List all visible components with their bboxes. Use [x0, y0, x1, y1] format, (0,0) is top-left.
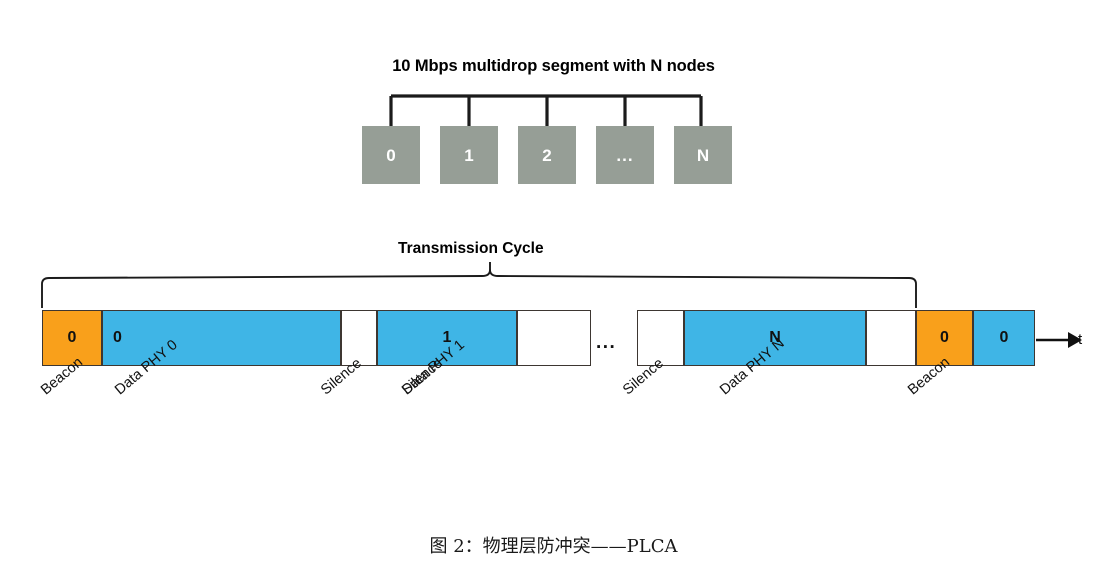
node-box-label: 0 — [386, 147, 395, 164]
figure-canvas: 10 Mbps multidrop segment with N nodes 0… — [0, 0, 1107, 579]
time-axis-arrow — [1034, 324, 1106, 356]
node-box-ellipsis: ... — [596, 126, 654, 184]
timeline-block-data-1: 0 — [102, 310, 341, 366]
timeline-block-silence-5 — [637, 310, 684, 366]
node-box-label: N — [697, 147, 709, 164]
node-box-2: 2 — [518, 126, 576, 184]
timeline-block-label: 0 — [113, 330, 122, 346]
timeline-block-silence-7 — [866, 310, 916, 366]
timeline-gap-ellipsis: ... — [596, 332, 616, 354]
timeline-block-silence-4 — [517, 310, 591, 366]
time-axis-label: t — [1078, 331, 1082, 348]
node-box-0: 0 — [362, 126, 420, 184]
node-box-label: 2 — [542, 147, 551, 164]
transmission-cycle-bracket — [30, 262, 950, 308]
segment-title: 10 Mbps multidrop segment with N nodes — [0, 57, 1107, 76]
node-box-label: ... — [616, 147, 633, 164]
node-box-label: 1 — [464, 147, 473, 164]
node-box-1: 1 — [440, 126, 498, 184]
node-box-N: N — [674, 126, 732, 184]
figure-caption: 图 2：物理层防冲突——PLCA — [0, 532, 1107, 558]
transmission-cycle-label: Transmission Cycle — [398, 240, 544, 258]
timeline-block-silence-2 — [341, 310, 377, 366]
timeline-block-label: 0 — [1000, 330, 1009, 346]
timeline-block-label: 0 — [68, 330, 77, 346]
timeline-block-data-c-9: 0 — [973, 310, 1035, 366]
timeline-block-label: 0 — [940, 330, 949, 346]
